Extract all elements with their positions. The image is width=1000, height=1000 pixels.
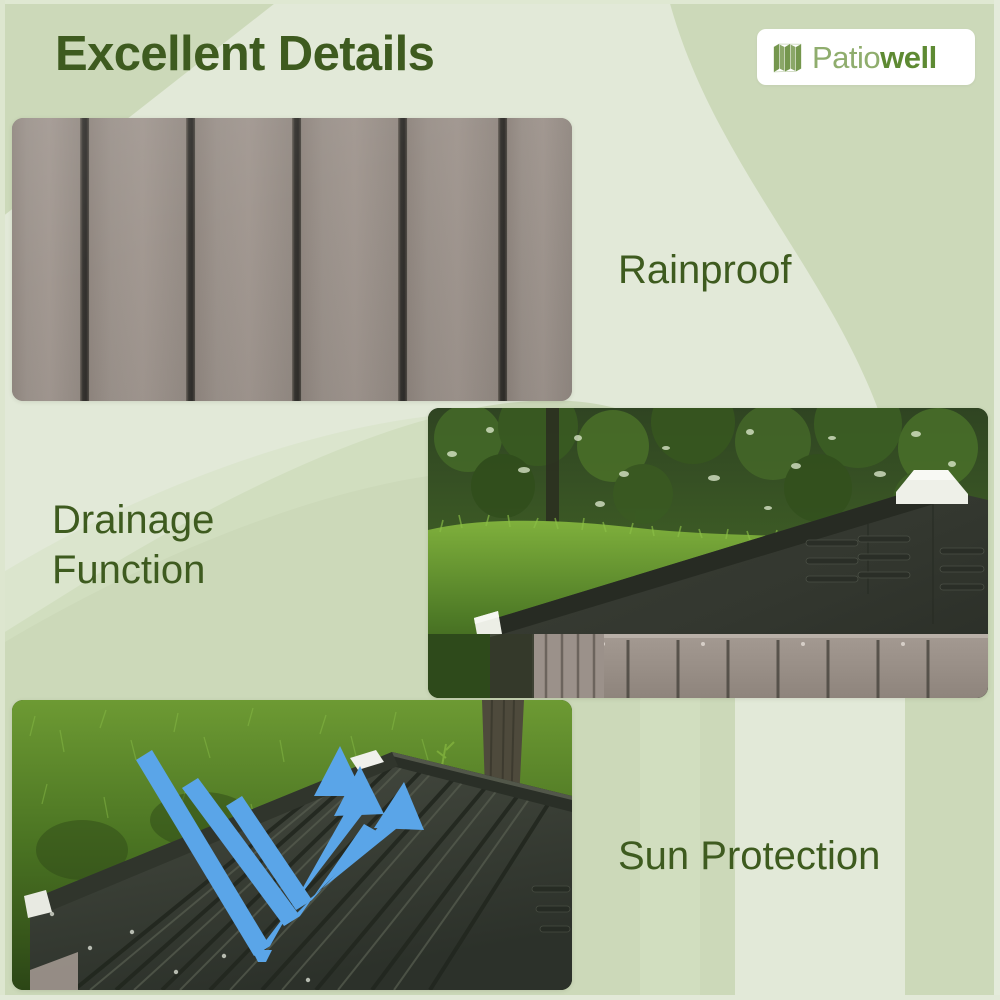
brand-name-part-2: well (880, 40, 937, 75)
shed-roof-sun-illustration (12, 700, 572, 990)
brand-name-part-1: Patio (812, 40, 880, 75)
patiowell-layered-panel-icon (771, 40, 805, 74)
page-edge-left (0, 0, 5, 1000)
page-title: Excellent Details (55, 26, 434, 82)
infographic-page: Excellent Details Patiowell (0, 0, 1000, 1000)
feature-label-rainproof: Rainproof (618, 245, 791, 295)
media-shed-roof-drainage (428, 408, 988, 698)
page-edge-right (994, 0, 1000, 1000)
feature-label-drainage: Drainage Function (52, 495, 214, 596)
shed-roof-drainage-illustration (428, 408, 988, 698)
media-shed-roof-sun-reflection (12, 700, 572, 990)
feature-label-sun-protection: Sun Protection (618, 831, 880, 881)
page-edge-bottom (0, 995, 1000, 1000)
media-corrugated-wall-panel (12, 118, 572, 401)
page-edge-top (0, 0, 1000, 4)
brand-logo-text: Patiowell (812, 42, 937, 73)
corrugated-panel-graphic (12, 118, 572, 401)
brand-logo: Patiowell (757, 29, 975, 85)
